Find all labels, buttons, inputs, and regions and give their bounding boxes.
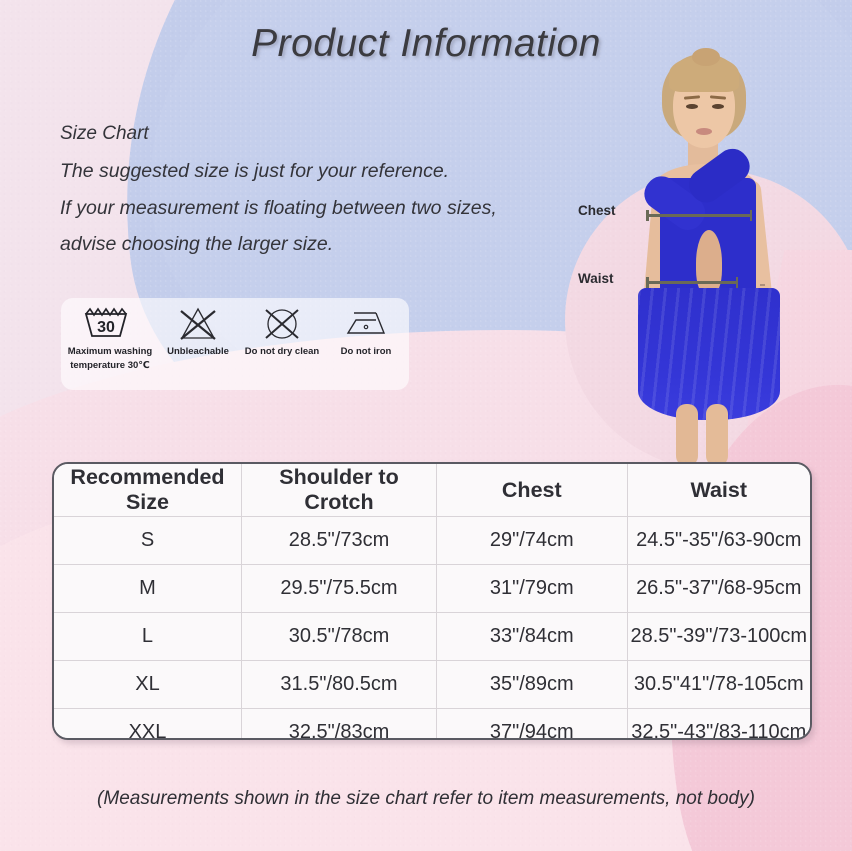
cell-waist: 32.5"-43"/83-110cm — [627, 709, 810, 741]
size-chart-table: Recommended Size Shoulder to Crotch Ches… — [54, 464, 810, 740]
cell-shoulder-to-crotch: 32.5"/83cm — [241, 709, 436, 741]
cell-chest: 31"/79cm — [437, 565, 628, 613]
wash-tub-30-icon: 30 — [82, 304, 138, 344]
care-item-washing: 30 Maximum washing temperature 30℃ — [61, 304, 159, 372]
care-item-dry-clean: Do not dry clean — [237, 304, 327, 358]
model-eye-right — [712, 104, 724, 109]
model-eye-left — [686, 104, 698, 109]
table-header-row: Recommended Size Shoulder to Crotch Ches… — [54, 464, 810, 517]
dress-front-cutout — [696, 230, 722, 296]
svg-text:30: 30 — [97, 319, 115, 336]
cell-size: L — [54, 613, 241, 661]
intro-line-1: The suggested size is just for your refe… — [60, 162, 600, 182]
care-label-bleach: Unbleachable — [167, 346, 229, 358]
care-label-washing-line2: temperature 30℃ — [70, 360, 150, 372]
intro-line-2: If your measurement is floating between … — [60, 199, 600, 219]
cell-shoulder-to-crotch: 30.5"/78cm — [241, 613, 436, 661]
intro-line-3: advise choosing the larger size. — [60, 235, 600, 255]
care-label-washing-line1: Maximum washing — [68, 346, 152, 358]
care-item-iron: Do not iron — [327, 304, 405, 358]
header-shoulder-to-crotch: Shoulder to Crotch — [241, 464, 436, 517]
header-chest: Chest — [437, 464, 628, 517]
model-leg-right — [706, 404, 728, 466]
care-label-iron: Do not iron — [341, 346, 392, 358]
cell-size: XL — [54, 661, 241, 709]
no-bleach-icon — [176, 304, 220, 344]
cell-size: S — [54, 517, 241, 565]
model-photo — [600, 52, 852, 462]
header-waist: Waist — [627, 464, 810, 517]
cell-waist: 26.5"-37"/68-95cm — [627, 565, 810, 613]
table-row: M 29.5"/75.5cm 31"/79cm 26.5"-37"/68-95c… — [54, 565, 810, 613]
no-dry-clean-icon — [260, 304, 304, 344]
cell-chest: 29"/74cm — [437, 517, 628, 565]
care-label-dry-clean: Do not dry clean — [245, 346, 319, 358]
size-chart-table-container: Recommended Size Shoulder to Crotch Ches… — [52, 462, 812, 740]
cell-chest: 37"/94cm — [437, 709, 628, 741]
care-instructions-panel: 30 Maximum washing temperature 30℃ Unble… — [61, 298, 409, 390]
cell-waist: 30.5"41"/78-105cm — [627, 661, 810, 709]
care-item-bleach: Unbleachable — [159, 304, 237, 358]
table-row: S 28.5"/73cm 29"/74cm 24.5"-35"/63-90cm — [54, 517, 810, 565]
model-leg-left — [676, 404, 698, 466]
cell-chest: 35"/89cm — [437, 661, 628, 709]
table-row: XL 31.5"/80.5cm 35"/89cm 30.5"41"/78-105… — [54, 661, 810, 709]
cell-shoulder-to-crotch: 28.5"/73cm — [241, 517, 436, 565]
model-hair-bun — [692, 48, 720, 66]
header-recommended-size: Recommended Size — [54, 464, 241, 517]
cell-chest: 33"/84cm — [437, 613, 628, 661]
waist-measure-line — [646, 281, 738, 284]
size-chart-intro: Size Chart The suggested size is just fo… — [60, 124, 600, 272]
cell-shoulder-to-crotch: 29.5"/75.5cm — [241, 565, 436, 613]
table-row: L 30.5"/78cm 33"/84cm 28.5"-39"/73-100cm — [54, 613, 810, 661]
cell-waist: 24.5"-35"/63-90cm — [627, 517, 810, 565]
product-information-page: Product Information Chest Waist Size Cha… — [0, 0, 852, 851]
cell-size: M — [54, 565, 241, 613]
no-iron-icon — [342, 304, 390, 344]
cell-waist: 28.5"-39"/73-100cm — [627, 613, 810, 661]
cell-size: XXL — [54, 709, 241, 741]
table-row: XXL 32.5"/83cm 37"/94cm 32.5"-43"/83-110… — [54, 709, 810, 741]
size-chart-heading: Size Chart — [60, 124, 600, 143]
waist-measure-label: Waist — [578, 271, 614, 286]
measurements-footnote: (Measurements shown in the size chart re… — [0, 788, 852, 810]
chest-measure-line — [646, 214, 752, 217]
dress-skirt — [638, 288, 780, 420]
cell-shoulder-to-crotch: 31.5"/80.5cm — [241, 661, 436, 709]
model-lips — [696, 128, 712, 135]
